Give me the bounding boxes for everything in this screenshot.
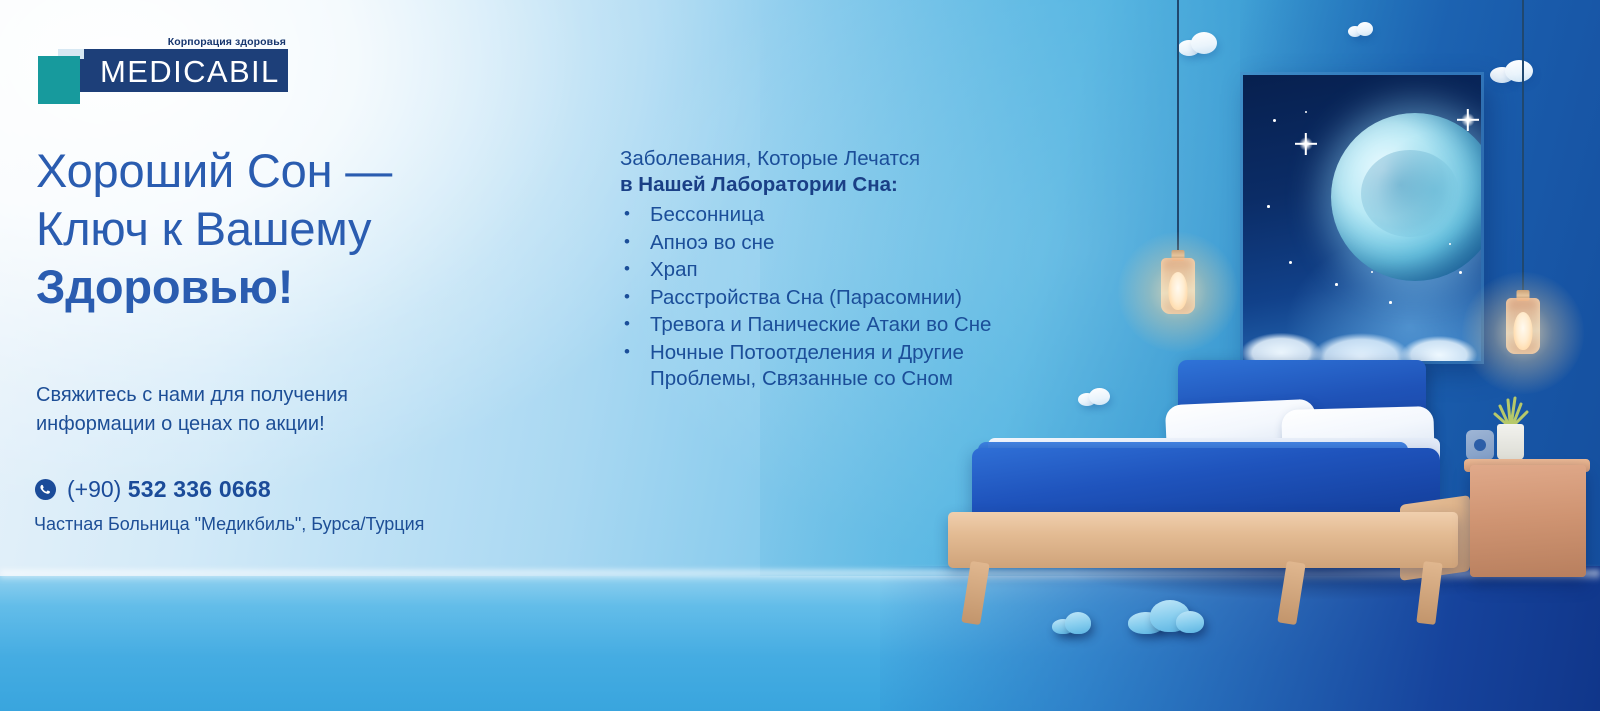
plant-pot (1497, 424, 1524, 460)
list-item: Бессонница (620, 202, 1070, 229)
star-icon (1289, 261, 1292, 264)
star-icon (1335, 283, 1338, 286)
sparkle-star-icon (1461, 113, 1475, 127)
list-item: Ночные Потоотделения и Другие Проблемы, … (620, 340, 1070, 393)
phone-number[interactable]: (+90) 532 336 0668 (67, 476, 271, 503)
conditions-heading-regular: Заболевания, Которые Лечатся (620, 146, 1070, 172)
list-item: Тревога и Панические Атаки во Сне (620, 312, 1070, 339)
page-title: Хороший Сон — Ключ к Вашему Здоровью! (36, 142, 576, 316)
star-icon (1267, 205, 1270, 208)
promo-subtext: Свяжитесь с нами для получения информаци… (36, 381, 466, 439)
star-icon (1273, 119, 1276, 122)
sparkle-star-icon (1299, 137, 1313, 151)
headline-line-1: Хороший Сон — (36, 142, 576, 200)
pendant-lamp-right (1493, 0, 1553, 380)
cloud-floor-1-icon (1052, 612, 1092, 634)
phone-country-code: (+90) (67, 476, 121, 502)
lamp-cord (1522, 0, 1524, 292)
sleep-lab-promo-banner: Корпорация здоровья MEDICABIL Хороший Со… (0, 0, 1600, 711)
conditions-block: Заболевания, Которые Лечатся в Нашей Лаб… (620, 146, 1070, 394)
pendant-lamp-left (1148, 0, 1208, 340)
medicabil-logo[interactable]: Корпорация здоровья MEDICABIL (36, 36, 288, 92)
table-clock-icon (1466, 430, 1494, 460)
whatsapp-icon[interactable] (34, 478, 57, 501)
conditions-list: Бессонница Апноэ во сне Храп Расстройств… (620, 202, 1070, 393)
conditions-heading: Заболевания, Которые Лечатся в Нашей Лаб… (620, 146, 1070, 198)
cloud-wall-2-icon (1348, 22, 1374, 38)
bed-leg (1277, 561, 1305, 625)
star-icon (1389, 301, 1392, 304)
logo-teal-square (38, 56, 80, 104)
moon-artwork-frame (1243, 75, 1481, 361)
star-icon (1371, 271, 1373, 273)
subtext-line-2: информации о ценах по акции! (36, 410, 466, 439)
star-icon (1305, 111, 1307, 113)
phone-digits: 532 336 0668 (128, 476, 271, 502)
logo-tagline: Корпорация здоровья (168, 36, 286, 48)
lamp-bulb (1514, 312, 1533, 350)
wooden-nightstand (1470, 465, 1586, 577)
list-item: Храп (620, 257, 1070, 284)
list-item: Апноэ во сне (620, 230, 1070, 257)
bed-frame (948, 512, 1458, 568)
subtext-line-1: Свяжитесь с нами для получения (36, 381, 466, 410)
star-icon (1459, 271, 1462, 274)
lamp-cord (1177, 0, 1179, 252)
star-icon (1449, 243, 1451, 245)
headline-line-2: Ключ к Вашему (36, 200, 576, 258)
artwork-clouds (1243, 315, 1481, 361)
clinic-address: Частная Больница "Медикбиль", Бурса/Турц… (34, 514, 424, 535)
lamp-bulb (1169, 272, 1188, 310)
logo-wordmark: MEDICABIL (100, 54, 280, 90)
cloud-floor-2-icon (1128, 600, 1204, 634)
conditions-heading-bold: в Нашей Лаборатории Сна: (620, 172, 1070, 198)
contact-phone-row[interactable]: (+90) 532 336 0668 (34, 476, 271, 503)
headline-line-3: Здоровью! (36, 258, 576, 316)
bed-leg (961, 561, 989, 625)
bed (930, 360, 1530, 630)
list-item: Расстройства Сна (Парасомнии) (620, 285, 1070, 312)
